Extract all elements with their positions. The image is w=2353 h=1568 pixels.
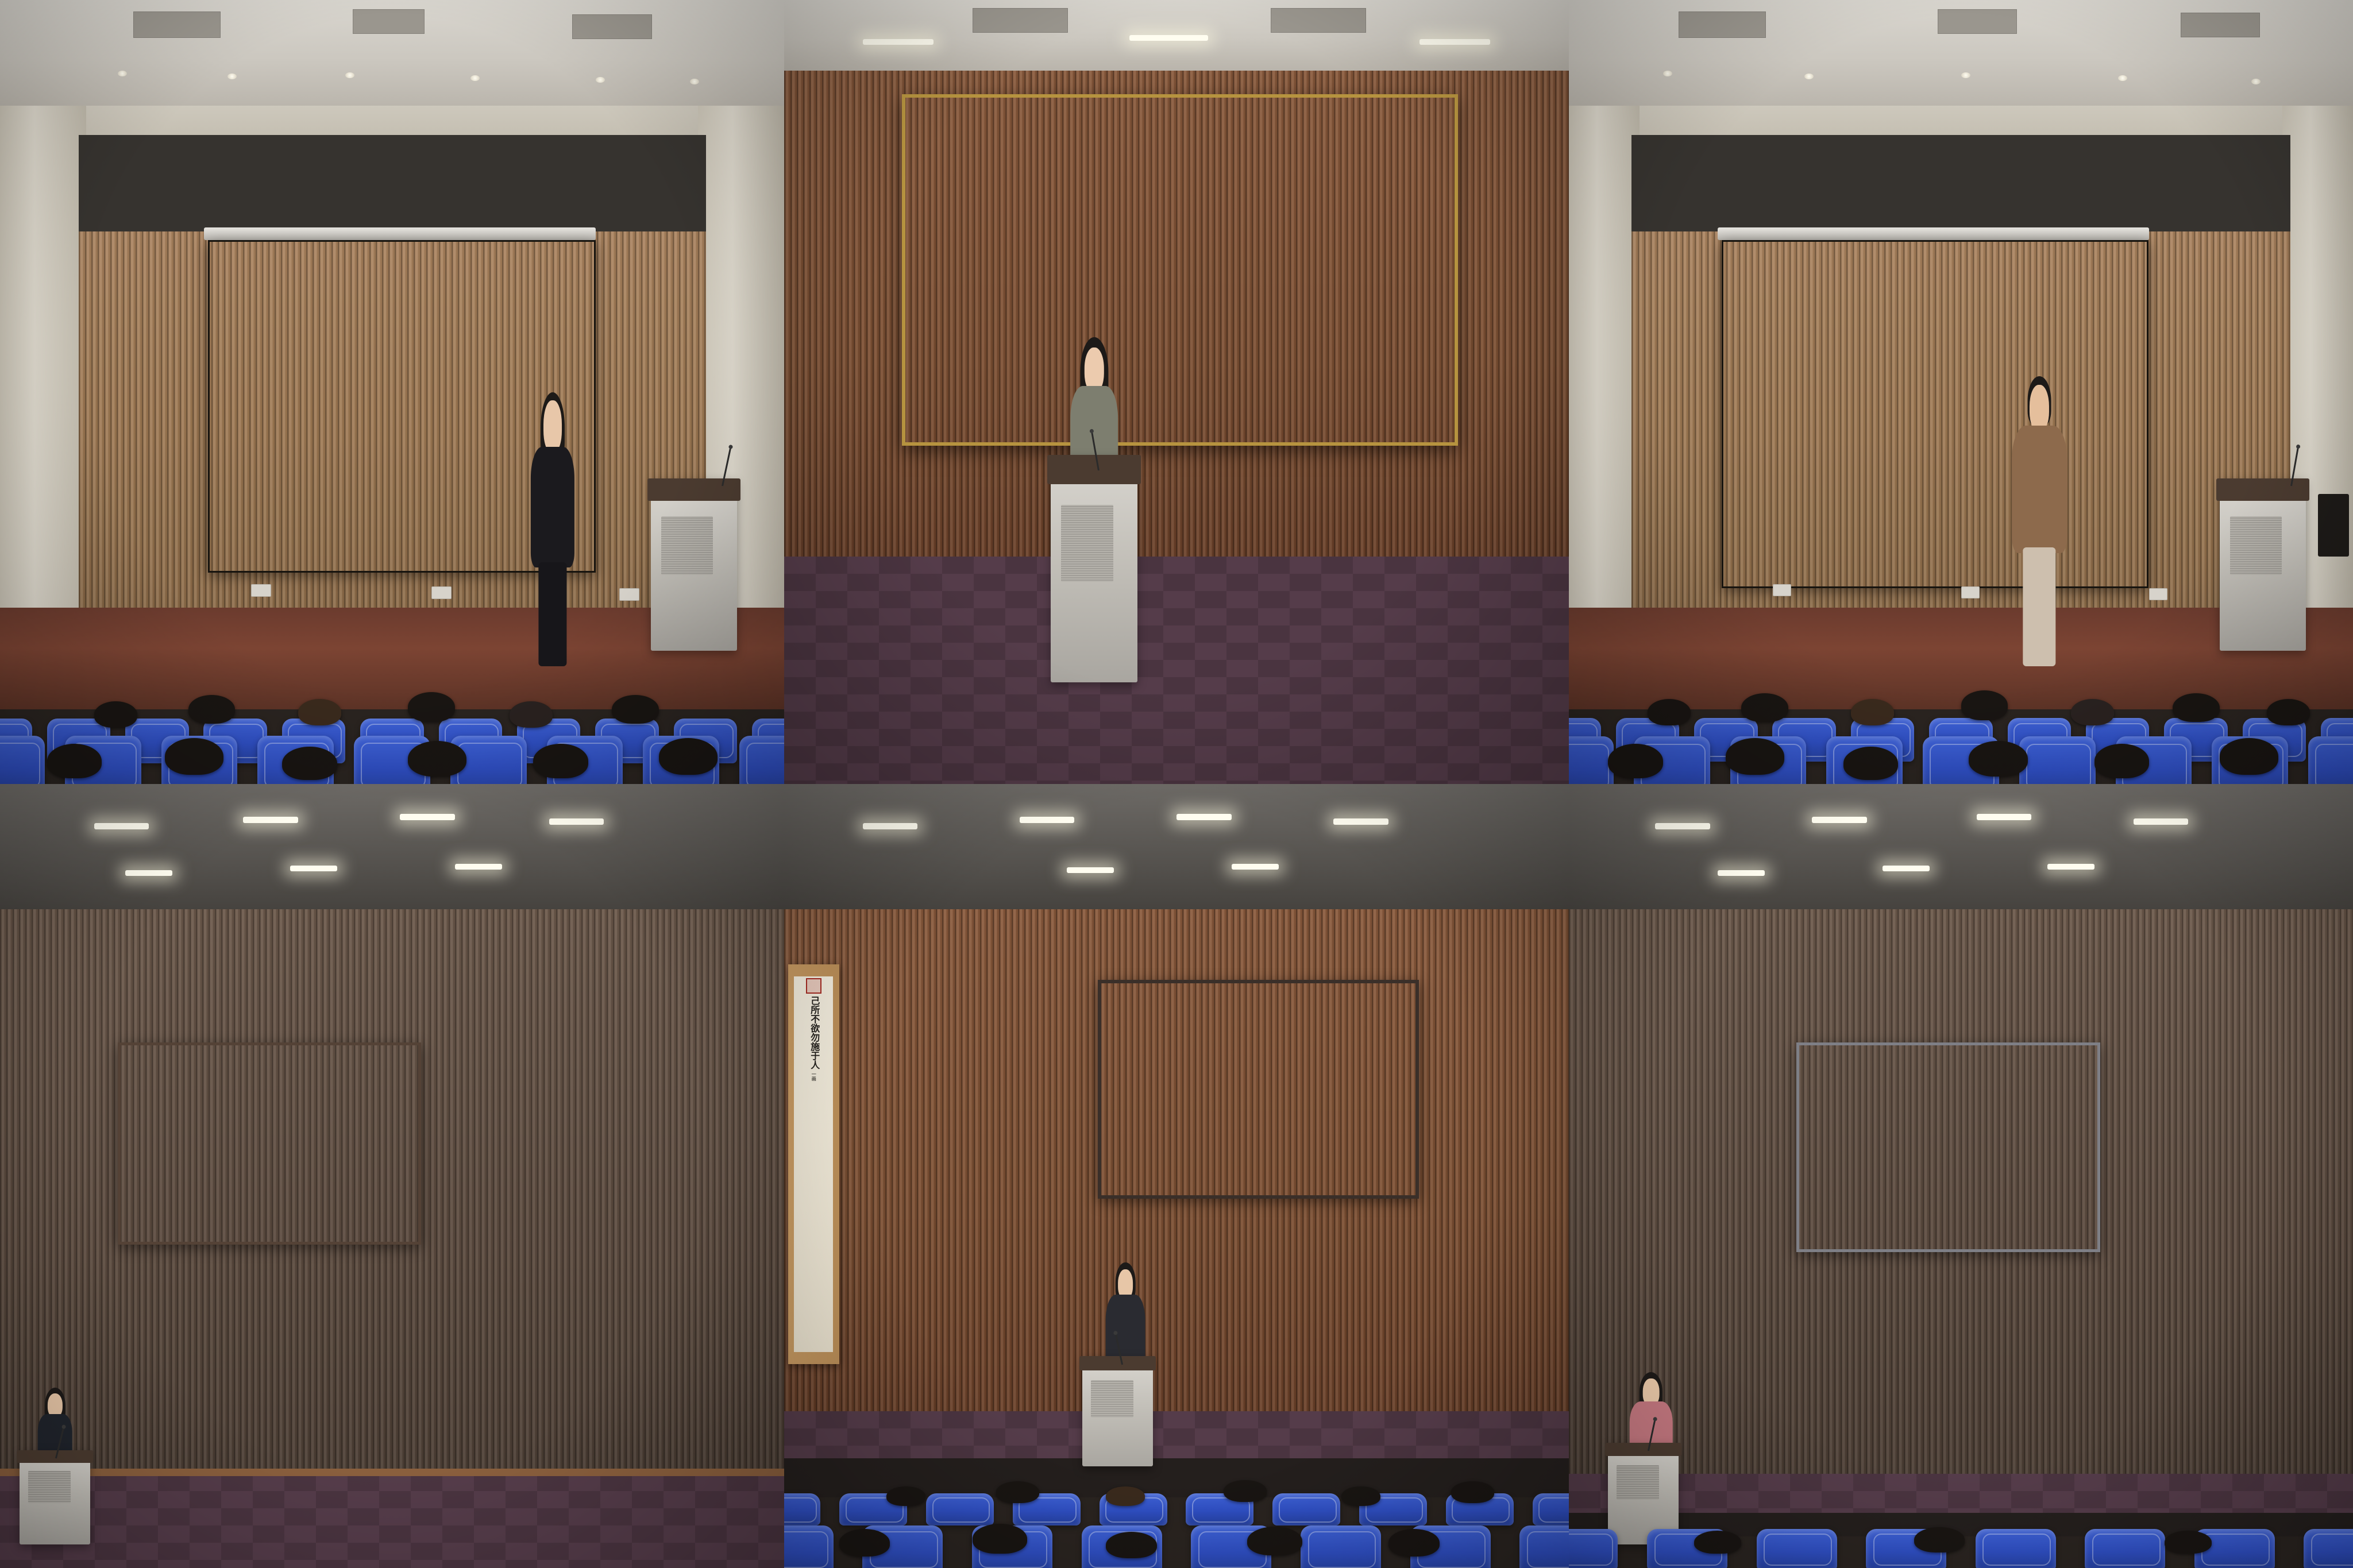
strip-light [290,866,337,871]
seat [2019,736,2096,784]
scroll-text: 己所不欲勿施于人 [807,996,820,1069]
audience-head [612,695,659,724]
audience-head [886,1486,925,1506]
audience-head [94,701,137,728]
downlight [596,77,605,83]
strip-light [1419,39,1490,45]
ceiling-vent [572,14,652,39]
wall-column-left [0,106,86,608]
downlight [1961,72,1970,78]
strip-light [125,870,172,876]
downlight [345,72,354,78]
audience-head [282,747,337,780]
seat [1533,1493,1569,1525]
stage-floor-carpet [784,557,1569,784]
seat [1272,1493,1340,1525]
seat [1757,1529,1837,1568]
strip-light [1020,817,1075,823]
strip-light [1977,814,2032,820]
screen-roller [204,227,596,240]
downlight [2118,75,2127,81]
strip-light [1129,35,1208,41]
panel-6-korea-program: 韩国高校直通车项目介绍 济 济宁学院 JINING UNIVERSITY 韩国留… [1569,784,2353,1568]
audience-head [1851,699,1894,725]
stage-edge [0,1469,784,1477]
audience-head [1914,1527,1965,1552]
audience-head [2094,744,2150,778]
strip-light [243,817,298,823]
photo-collage: WORK SUMMARY 机电工程学院 学风建设推进会 2025-10-23 ❮… [0,0,2353,1568]
audience-head [1341,1486,1380,1506]
strip-light [2047,864,2094,870]
strip-light [863,823,918,829]
speaker-cabinet [2318,494,2350,557]
seal-icon [806,978,821,994]
seat [1519,1525,1569,1568]
seat [2308,736,2353,784]
strip-light [1333,818,1388,825]
projection-screen: ❮ ❮ 机电工程学院 职业规划报告会 2025-10-23 [1722,240,2148,589]
strip-light [1718,870,1765,876]
audience-head [1961,690,2008,720]
downlight [1663,71,1672,76]
scroll-signature: 一画 [810,1072,817,1081]
strip-light [94,823,149,829]
stage-floor-carpet [0,1474,784,1568]
audience-head [408,741,466,777]
audience-seating [1569,1497,2353,1568]
strip-light [1232,864,1279,870]
audience-head [165,738,223,775]
seat [0,736,45,784]
panel-3-zhiye-meeting: ❮ ❮ 机电工程学院 职业规划报告会 2025-10-23 [1569,0,2353,784]
seat [926,1493,994,1525]
audience-head [1388,1529,1440,1557]
audience-head [996,1481,1039,1503]
audience-head [47,744,102,778]
audience-head [510,701,553,728]
calligraphy-scroll: 己所不欲勿施于人 一画 [788,964,839,1364]
ceiling-vent [133,11,221,38]
audience-head [2173,693,2220,722]
audience-head [1969,741,2027,777]
audience-head [659,738,718,775]
wall-outlet [1773,584,1791,596]
strip-light [1812,817,1867,823]
audience-head [1106,1486,1145,1506]
audience-head [1741,693,1788,722]
audience-head [298,699,341,725]
led-wall-screen: 韩国高校直通车项目介绍 济 济宁学院 JINING UNIVERSITY 韩国留… [1796,1042,2100,1252]
seat [1976,1529,2056,1568]
panel-1-xuefeng-meeting: WORK SUMMARY 机电工程学院 学风建设推进会 2025-10-23 ❮… [0,0,784,784]
ceiling-vent [973,8,1068,33]
seat [2085,1529,2165,1568]
audience-head [1106,1532,1157,1558]
strip-light [1176,814,1232,820]
audience-head [839,1529,890,1557]
seat [1301,1525,1381,1568]
audience-head [973,1524,1028,1554]
seat [1569,1529,1618,1568]
podium [20,1450,90,1544]
downlight [690,79,699,84]
wall-outlet [251,584,271,597]
panel-5-exam-briefing: 己所不欲勿施于人 一画 常见考试 怕你不知道能考 考试名目公告/笔试时间笔试/面… [784,784,1569,1568]
ceiling [0,784,784,909]
downlight [470,75,480,81]
ceiling-vent [1679,11,1766,38]
downlight [2251,79,2261,84]
seat [739,736,784,784]
audience-seating [1569,596,2353,784]
audience-head [2220,738,2278,775]
ceiling [784,784,1569,909]
led-wall-screen: 高 曲阜高联2025届 考研 985、211录取率达40.8% 超过400分学员… [118,1042,422,1244]
screen-roller [1718,227,2149,240]
audience-head [188,695,236,724]
audience-head [1224,1480,1267,1502]
podium [1051,455,1137,682]
seat [2304,1529,2353,1568]
ceiling-vent [1271,8,1366,33]
audience-head [2071,699,2114,725]
ceiling-vent [1938,9,2018,34]
strip-light [1655,823,1710,829]
downlight [1804,74,1814,79]
strip-light [863,39,934,45]
strip-light [1883,866,1930,871]
audience-head [1648,699,1691,725]
stage-valance [1631,135,2290,233]
audience-head [1451,1481,1494,1503]
panel-2-jiuye-meeting: 机电工程学院 就业宣讲会 2025-10-23 [784,0,1569,784]
audience-seating [784,1427,1569,1568]
audience-head [1843,747,1899,780]
strip-light [2134,818,2189,825]
ceiling [1569,784,2353,909]
audience-head [1608,744,1663,778]
projection-screen: 常见考试 怕你不知道能考 考试名目公告/笔试时间笔试/面试/面试时间笔试/面试考… [1098,980,1418,1199]
audience-head [2267,699,2310,725]
audience-head [533,744,588,778]
seat [784,1525,834,1568]
panel-4-kaoyan-report: 高 曲阜高联2025届 考研 985、211录取率达40.8% 超过400分学员… [0,784,784,1568]
audience-head [1726,738,1784,775]
ceiling-vent [2181,13,2261,37]
stage-valance [79,135,706,233]
strip-light [455,864,502,870]
strip-light [549,818,604,825]
audience-head [1247,1527,1302,1555]
seat [1569,736,1614,784]
downlight [118,71,127,76]
strip-light [1067,867,1114,873]
wall-column-left [1569,106,1640,608]
strip-light [400,814,455,820]
audience-head [1694,1531,1741,1554]
audience-head [2165,1531,2212,1554]
audience-head [408,692,455,722]
audience-seating [0,596,784,784]
led-wall-screen: 机电工程学院 就业宣讲会 2025-10-23 [902,94,1458,446]
ceiling-vent [353,9,425,34]
seat [784,1493,820,1525]
